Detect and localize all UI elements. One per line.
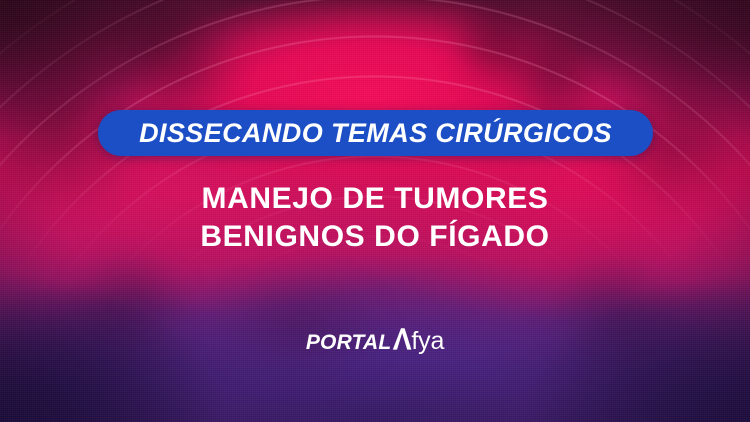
thumbnail-content: DISSECANDO TEMAS CIRÚRGICOS MANEJO DE TU… xyxy=(0,0,750,422)
headline-line-2: BENIGNOS DO FÍGADO xyxy=(0,218,750,256)
headline: MANEJO DE TUMORES BENIGNOS DO FÍGADO xyxy=(0,180,750,256)
brand-afya-wordmark: fya xyxy=(392,325,444,354)
brand-afya-label: fya xyxy=(411,329,444,354)
afya-a-monogram-icon xyxy=(392,327,412,351)
thumbnail-canvas: DISSECANDO TEMAS CIRÚRGICOS MANEJO DE TU… xyxy=(0,0,750,422)
series-badge: DISSECANDO TEMAS CIRÚRGICOS xyxy=(98,110,653,156)
headline-line-1: MANEJO DE TUMORES xyxy=(0,180,750,218)
series-badge-label: DISSECANDO TEMAS CIRÚRGICOS xyxy=(139,120,612,147)
brand-portal-wordmark: PORTAL xyxy=(306,332,392,353)
brand-logo: PORTAL fya xyxy=(0,325,750,354)
